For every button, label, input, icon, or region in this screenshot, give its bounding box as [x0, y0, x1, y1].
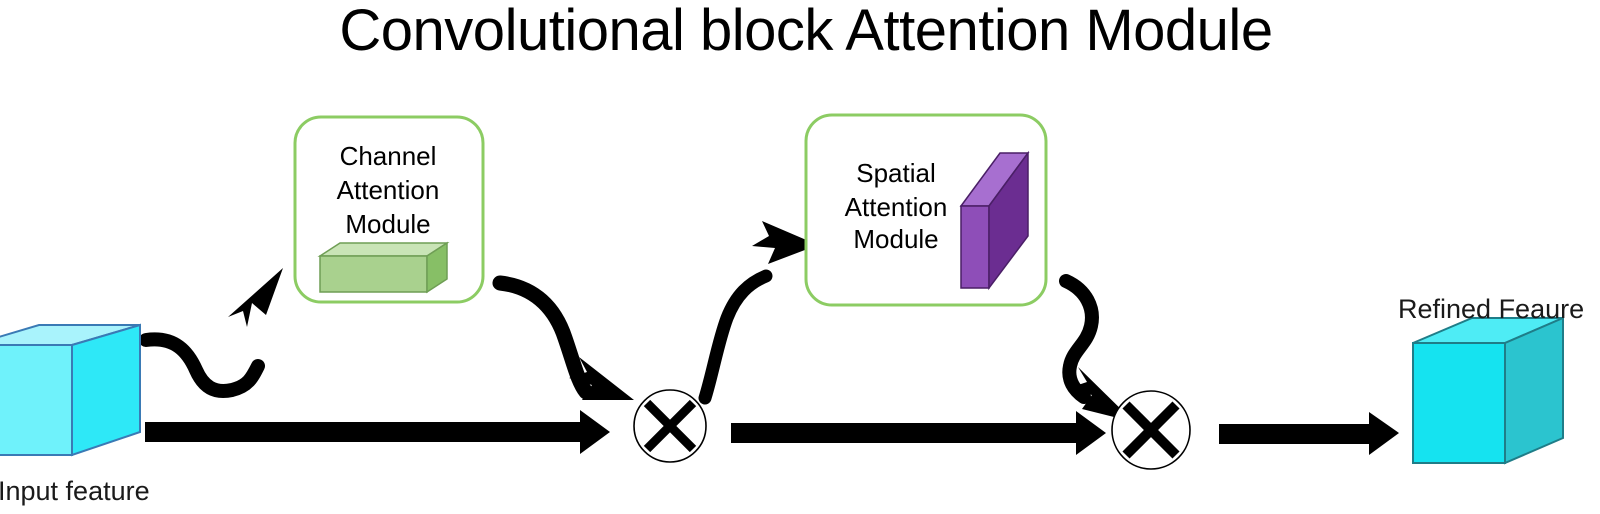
arrow-input-to-multiply1: [145, 410, 610, 454]
spatial-module-label-line2: Attention: [845, 192, 948, 222]
cube-side-face: [72, 325, 140, 455]
arrow-spatial-to-multiply2: [1066, 281, 1134, 422]
arrow-multiply1-to-multiply2: [731, 411, 1106, 455]
spatial-attention-module[interactable]: Spatial Attention Module: [806, 115, 1046, 305]
slab-left-face: [961, 206, 989, 288]
multiply-node-1[interactable]: [634, 390, 706, 462]
arrow-input-to-channel: [146, 268, 283, 391]
channel-module-label-line2: Attention: [337, 175, 440, 205]
curved-arrow-path: [500, 283, 586, 392]
cube-front-face: [0, 345, 72, 455]
arrow-multiply2-to-output: [1219, 412, 1399, 455]
cube-front-face: [1413, 343, 1505, 463]
channel-feature-slab: [320, 243, 447, 292]
multiply-node-2[interactable]: [1112, 391, 1190, 469]
cbam-diagram: Convolutional block Attention Module: [0, 0, 1600, 514]
channel-module-label-line1: Channel: [340, 141, 437, 171]
curved-arrow-path: [146, 339, 258, 391]
diagram-canvas: Convolutional block Attention Module: [0, 0, 1600, 514]
curved-arrow-path: [705, 276, 766, 398]
refined-feature-label: Refined Feaure: [1398, 294, 1584, 324]
curved-arrow-head: [228, 268, 283, 327]
channel-module-label-line3: Module: [345, 209, 430, 239]
straight-arrow-shape: [731, 411, 1106, 455]
slab-front-face: [320, 256, 427, 292]
spatial-module-label-line1: Spatial: [856, 158, 936, 188]
refined-feature-cube: [1413, 318, 1563, 463]
cube-side-face: [1505, 318, 1563, 463]
spatial-module-label-line3: Module: [853, 224, 938, 254]
channel-attention-module[interactable]: Channel Attention Module: [295, 117, 483, 302]
straight-arrow-shape: [145, 410, 610, 454]
arrow-channel-to-multiply1: [500, 283, 634, 400]
arrow-multiply1-to-spatial: [705, 221, 818, 398]
input-feature-cube: [0, 325, 140, 455]
figure-title: Convolutional block Attention Module: [339, 0, 1272, 63]
slab-top-face: [320, 243, 447, 256]
input-feature-label: Input feature: [0, 476, 150, 506]
straight-arrow-shape: [1219, 412, 1399, 455]
